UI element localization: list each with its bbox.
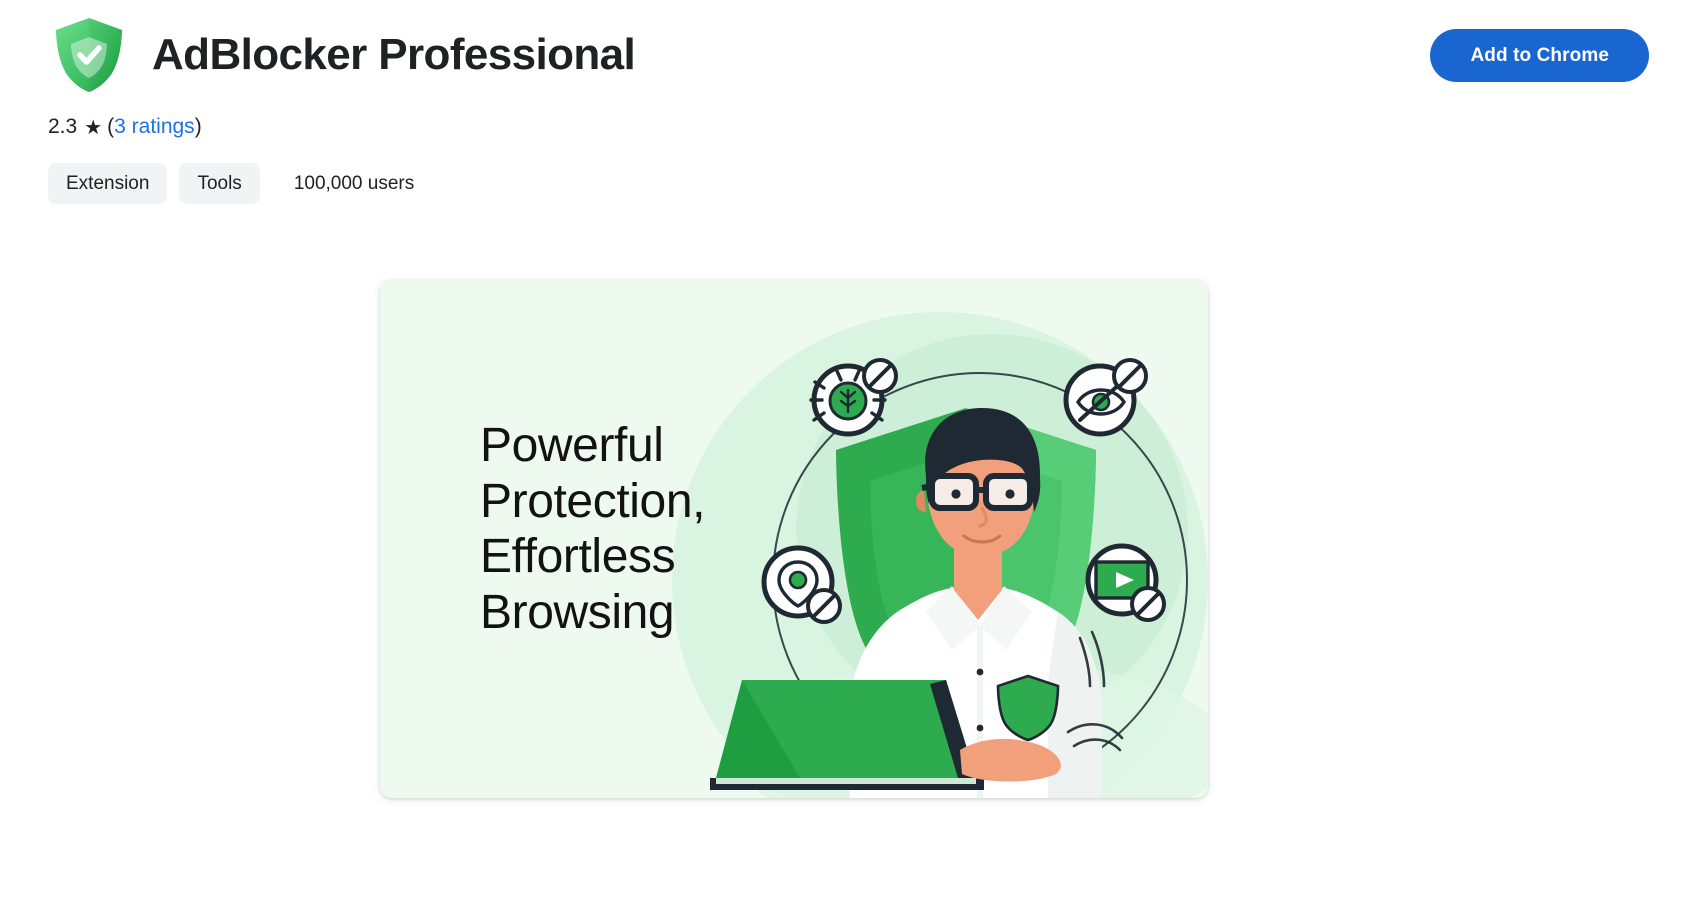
add-to-chrome-button[interactable]: Add to Chrome xyxy=(1430,29,1649,82)
users-count: 100,000 users xyxy=(294,174,414,193)
star-icon: ★ xyxy=(84,118,102,138)
extension-detail-page: AdBlocker Professional Add to Chrome 2.3… xyxy=(0,0,1689,919)
rating-close-paren: ) xyxy=(195,116,202,137)
page-header: AdBlocker Professional Add to Chrome xyxy=(48,14,1649,96)
page-title: AdBlocker Professional xyxy=(152,31,635,79)
meta-chips-row: Extension Tools 100,000 users xyxy=(48,163,414,204)
promo-headline: Powerful Protection, Effortless Browsing xyxy=(480,418,705,641)
rating-open-paren: ( xyxy=(107,116,114,137)
shield-check-icon xyxy=(48,14,130,96)
ratings-count-link[interactable]: 3 ratings xyxy=(114,116,195,137)
chip-tools[interactable]: Tools xyxy=(179,163,259,204)
laptop xyxy=(710,680,984,790)
rating-value: 2.3 xyxy=(48,116,77,137)
promo-tile[interactable]: Powerful Protection, Effortless Browsing xyxy=(380,280,1208,798)
rating-summary: 2.3 ★ ( 3 ratings ) xyxy=(48,116,202,137)
chip-extension[interactable]: Extension xyxy=(48,163,167,204)
